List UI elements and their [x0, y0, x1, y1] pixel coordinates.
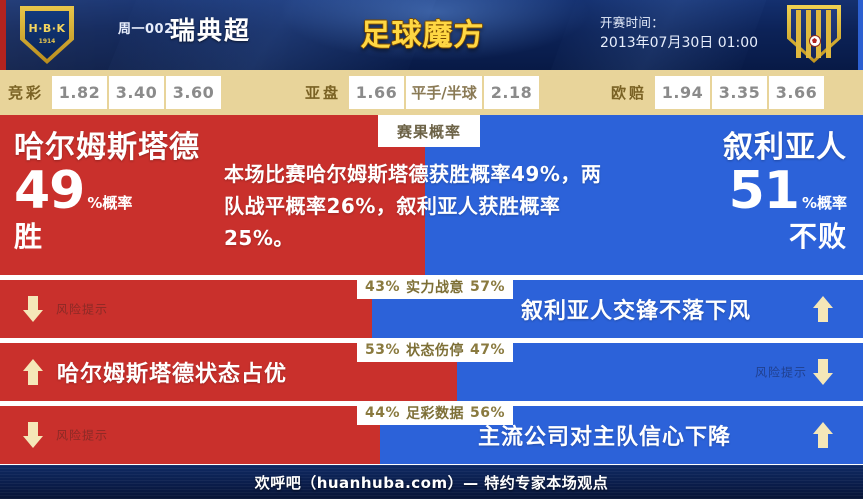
row1-right-percent: 57%: [470, 279, 505, 295]
tab-result-probability[interactable]: 赛果概率: [378, 115, 480, 147]
away-probability-value: 51 %概率: [723, 165, 847, 217]
row3-metric-chip: 44% 足彩数据 56%: [357, 401, 513, 425]
odds-group-jingcai: 竞彩 1.82 3.40 3.60: [0, 76, 223, 109]
odds-cell[interactable]: 3.40: [109, 76, 164, 109]
row2-left-text: 哈尔姆斯塔德状态占优: [57, 356, 287, 388]
row2-right-arrow-down-icon: [812, 357, 834, 387]
odds-cell-handicap[interactable]: 平手/半球: [406, 76, 482, 109]
row2-right-risk-label: 风险提示: [755, 364, 807, 381]
row1-left-percent: 43%: [365, 279, 400, 295]
row3-left-risk-label: 风险提示: [56, 427, 108, 444]
crest-stripes: [792, 10, 836, 58]
away-outcome-label: 不败: [723, 215, 847, 255]
odds-cell[interactable]: 1.66: [349, 76, 404, 109]
odds-bar: 竞彩 1.82 3.40 3.60 亚盘 1.66 平手/半球 2.18 欧赔 …: [0, 70, 863, 115]
row2-left-arrow-up-icon: [22, 357, 44, 387]
odds-cell[interactable]: 3.35: [712, 76, 767, 109]
crest-football-icon: [809, 35, 821, 47]
metric-row-strength: 风险提示 43% 实力战意 57% 叙利亚人交锋不落下风: [0, 280, 863, 338]
home-probability-value: 49 %概率: [14, 165, 200, 217]
odds-cell[interactable]: 1.82: [52, 76, 107, 109]
away-probability-block: 叙利亚人 51 %概率 不败: [723, 131, 847, 255]
away-team-name: 叙利亚人: [723, 131, 847, 165]
kickoff-label: 开赛时间：: [600, 12, 790, 33]
row3-right-arrow-up-icon: [812, 420, 834, 450]
metric-row-form: 哈尔姆斯塔德状态占优 53% 状态伤停 47% 风险提示: [0, 343, 863, 401]
home-team-crest-icon: H·B·K 1914: [20, 6, 74, 64]
kickoff-time-block: 开赛时间： 2013年07月30日 01:00: [600, 12, 790, 54]
metric-row-lottery-data: 风险提示 44% 足彩数据 56% 主流公司对主队信心下降: [0, 406, 863, 464]
away-team-crest-icon: [787, 5, 841, 63]
header-bar: H·B·K 1914 周一002 瑞典超 足球魔方 开赛时间： 2013年07月…: [0, 0, 863, 70]
odds-cell[interactable]: 1.94: [655, 76, 710, 109]
row2-metric-chip: 53% 状态伤停 47%: [357, 338, 513, 362]
row1-left-arrow-down-icon: [22, 294, 44, 324]
footer-bar: 欢呼吧（huanhuba.com）— 特约专家本场观点: [0, 465, 863, 499]
kickoff-value: 2013年07月30日 01:00: [600, 33, 790, 54]
home-probability-suffix: %概率: [87, 196, 132, 211]
footer-credit: 欢呼吧（huanhuba.com）— 特约专家本场观点: [255, 472, 609, 493]
row3-right-percent: 56%: [470, 405, 505, 421]
header-left-edge: [0, 0, 6, 70]
row3-left-percent: 44%: [365, 405, 400, 421]
row1-right-text: 叙利亚人交锋不落下风: [521, 293, 751, 325]
away-probability-suffix: %概率: [802, 196, 847, 211]
row2-metric-name: 状态伤停: [406, 340, 464, 360]
odds-group-label: 竞彩: [0, 82, 52, 103]
odds-group-oupei: 欧赔 1.94 3.35 3.66: [603, 76, 826, 109]
home-outcome-label: 胜: [14, 215, 200, 255]
row3-left-arrow-down-icon: [22, 420, 44, 450]
row2-left-percent: 53%: [365, 342, 400, 358]
match-preview-infographic: H·B·K 1914 周一002 瑞典超 足球魔方 开赛时间： 2013年07月…: [0, 0, 863, 499]
away-probability-number: 51: [729, 165, 799, 217]
probability-description: 本场比赛哈尔姆斯塔德获胜概率49%，两队战平概率26%，叙利亚人获胜概率25%。: [224, 158, 620, 254]
odds-group-label: 亚盘: [297, 82, 349, 103]
home-probability-number: 49: [14, 165, 84, 217]
header-right-edge: [858, 0, 863, 70]
league-name: 瑞典超: [170, 11, 251, 47]
odds-cell[interactable]: 2.18: [484, 76, 539, 109]
home-crest-year: 1914: [20, 38, 74, 45]
odds-group-yapan: 亚盘 1.66 平手/半球 2.18: [297, 76, 541, 109]
row2-right-percent: 47%: [470, 342, 505, 358]
home-crest-label: H·B·K: [20, 22, 74, 35]
row3-metric-name: 足彩数据: [406, 403, 464, 423]
row1-metric-chip: 43% 实力战意 57%: [357, 275, 513, 299]
row3-right-text: 主流公司对主队信心下降: [478, 419, 731, 451]
odds-cell[interactable]: 3.66: [769, 76, 824, 109]
brand-logo: 足球魔方: [350, 10, 495, 54]
odds-cell[interactable]: 3.60: [166, 76, 221, 109]
odds-group-label: 欧赔: [603, 82, 655, 103]
row1-right-arrow-up-icon: [812, 294, 834, 324]
row1-metric-name: 实力战意: [406, 277, 464, 297]
home-probability-block: 哈尔姆斯塔德 49 %概率 胜: [14, 131, 200, 255]
match-number: 周一002: [118, 18, 174, 37]
home-team-name: 哈尔姆斯塔德: [14, 131, 200, 165]
row1-left-risk-label: 风险提示: [56, 301, 108, 318]
